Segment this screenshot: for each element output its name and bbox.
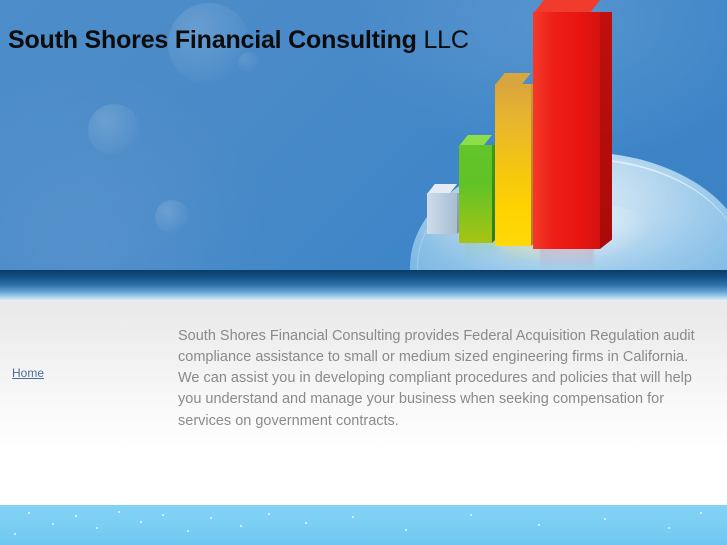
footer-speck [305,522,307,524]
footer-speck [538,524,540,526]
footer-band [0,505,727,545]
bubble-decoration-icon [88,104,140,156]
chart-bar-3 [495,84,531,246]
footer-speck [700,512,702,514]
chart-bar-1 [427,193,457,234]
footer-speck [352,516,354,518]
bar-front-face [533,12,600,249]
bar-front-face [495,84,531,246]
footer-speck [470,514,472,516]
bubble-decoration-icon [238,52,260,74]
footer-speck [118,511,120,513]
nav-link-home[interactable]: Home [12,366,44,380]
main-navigation: Home [12,364,44,382]
chart-bar-4 [533,12,600,249]
header-banner: South Shores Financial Consulting LLC [0,0,727,270]
footer-speck [96,527,98,529]
footer-speck [210,517,212,519]
bar-side-face [600,12,612,249]
footer-speck [604,518,606,520]
footer-speck [187,530,189,532]
footer-speck [140,521,142,523]
site-title-light: LLC [417,26,469,54]
footer-speck [668,527,670,529]
intro-paragraph: South Shores Financial Consulting provid… [178,326,698,432]
footer-speck [268,513,270,515]
site-title-strong: South Shores Financial Consulting [8,26,417,54]
footer-speck [28,512,30,514]
chart-bar-2 [459,145,492,243]
site-title: South Shores Financial Consulting LLC [8,26,469,54]
header-divider-band [0,270,727,302]
bubble-decoration-icon [155,200,189,234]
page-root: South Shores Financial Consulting LLC Ho… [0,0,727,545]
footer-speck [405,529,407,531]
bar-front-face [427,193,457,234]
footer-speck [14,533,16,535]
footer-speck [162,514,164,516]
footer-speck [52,523,54,525]
footer-speck [75,515,77,517]
footer-speck [240,525,242,527]
bar-front-face [459,145,492,243]
